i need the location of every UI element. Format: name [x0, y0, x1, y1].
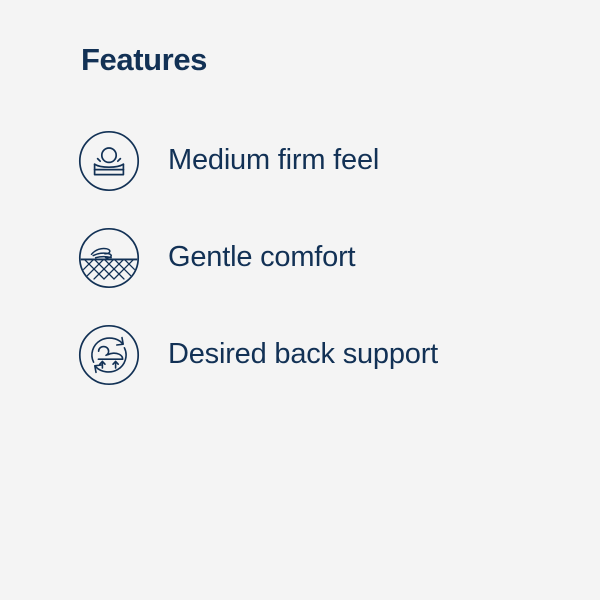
features-panel: Features Medium firm feel: [0, 0, 600, 600]
list-item: Gentle comfort: [0, 209, 600, 306]
feature-label: Medium firm feel: [168, 144, 379, 177]
hand-on-lattice-icon: [78, 227, 140, 289]
page-title: Features: [81, 43, 207, 77]
feature-label: Desired back support: [168, 338, 438, 371]
feature-label: Gentle comfort: [168, 241, 355, 274]
back-support-rotation-icon: [78, 324, 140, 386]
mattress-firmness-icon: [78, 130, 140, 192]
list-item: Medium firm feel: [0, 112, 600, 209]
feature-list: Medium firm feel: [0, 112, 600, 403]
list-item: Desired back support: [0, 306, 600, 403]
